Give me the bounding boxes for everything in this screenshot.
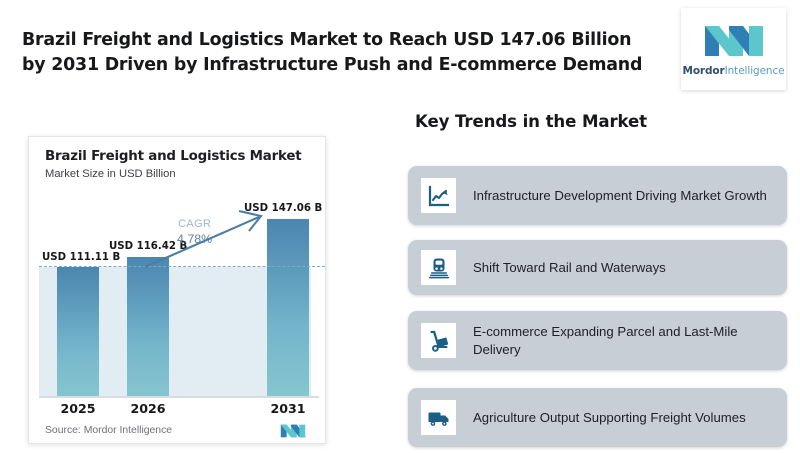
x-tick-2025: 2025 <box>48 401 108 416</box>
bar-2025 <box>57 267 99 397</box>
trend-label: Infrastructure Development Driving Marke… <box>473 187 767 205</box>
x-axis-labels: 2025 2026 2031 <box>39 401 319 421</box>
mordor-m-logo-icon <box>279 423 307 439</box>
brand-name-light: Intelligence <box>725 65 785 77</box>
brand-logo: MordorIntelligence <box>681 8 786 90</box>
bar-value-label-2025: USD 111.11 B <box>42 252 120 263</box>
trend-label: E-commerce Expanding Parcel and Last-Mil… <box>473 323 773 359</box>
delivery-truck-icon <box>421 400 456 435</box>
brand-name-bold: Mordor <box>682 65 724 77</box>
chart-growth-icon <box>421 178 456 213</box>
growth-arrow-icon <box>143 205 273 271</box>
hand-truck-icon <box>421 323 456 358</box>
trend-card-agriculture[interactable]: Agriculture Output Supporting Freight Vo… <box>408 388 787 447</box>
chart-plot-area: USD 111.11 B USD 116.42 B USD 147.06 B C… <box>39 197 319 397</box>
trend-card-ecommerce[interactable]: E-commerce Expanding Parcel and Last-Mil… <box>408 311 787 370</box>
mordor-m-logo-icon <box>703 22 765 60</box>
trends-heading: Key Trends in the Market <box>415 112 647 131</box>
chart-source: Source: Mordor Intelligence <box>45 425 172 436</box>
bar-2026 <box>127 257 169 397</box>
train-icon <box>421 250 456 285</box>
brand-wordmark: MordorIntelligence <box>682 65 784 77</box>
bar-2031 <box>267 219 309 397</box>
trend-card-rail-waterways[interactable]: Shift Toward Rail and Waterways <box>408 240 787 295</box>
chart-subtitle: Market Size in USD Billion <box>45 168 176 180</box>
chart-card: Brazil Freight and Logistics Market Mark… <box>28 136 326 444</box>
page-headline: Brazil Freight and Logistics Market to R… <box>22 28 652 78</box>
x-axis-line <box>39 396 319 398</box>
trend-card-infrastructure[interactable]: Infrastructure Development Driving Marke… <box>408 166 787 225</box>
chart-title: Brazil Freight and Logistics Market <box>45 149 301 164</box>
x-tick-2026: 2026 <box>118 401 178 416</box>
x-tick-2031: 2031 <box>258 401 318 416</box>
trend-label: Agriculture Output Supporting Freight Vo… <box>473 409 746 427</box>
trend-label: Shift Toward Rail and Waterways <box>473 259 666 277</box>
